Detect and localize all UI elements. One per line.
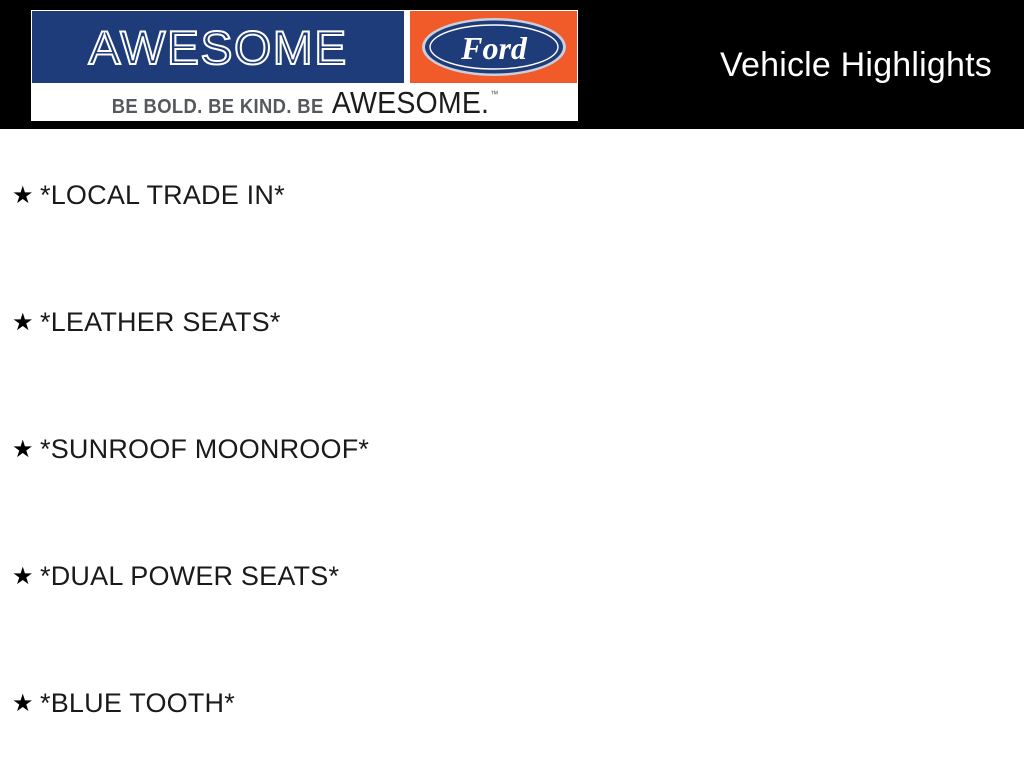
highlight-label: *SUNROOF MOONROOF* (40, 434, 369, 465)
star-icon: ★ (12, 311, 40, 335)
highlight-label: *DUAL POWER SEATS* (40, 561, 339, 592)
list-item: ★ *BLUE TOOTH* (12, 688, 235, 719)
star-icon: ★ (12, 565, 40, 589)
vehicle-highlights-page: AWESOME Ford BE BOLD. BE KIND. BE AWESOM… (0, 0, 1024, 768)
list-item: ★ *DUAL POWER SEATS* (12, 561, 339, 592)
highlight-label: *BLUE TOOTH* (40, 688, 235, 719)
logo-top-row: AWESOME Ford (31, 10, 578, 84)
list-item: ★ *LOCAL TRADE IN* (12, 180, 285, 211)
logo-blue-panel: AWESOME (32, 11, 404, 83)
awesome-ford-logo[interactable]: AWESOME Ford BE BOLD. BE KIND. BE AWESOM… (31, 10, 578, 121)
vehicle-highlights-list: ★ *LOCAL TRADE IN* ★ *LEATHER SEATS* ★ *… (0, 129, 1024, 768)
awesome-wordmark: AWESOME (88, 20, 347, 75)
highlight-label: *LEATHER SEATS* (40, 307, 281, 338)
header-bar: AWESOME Ford BE BOLD. BE KIND. BE AWESOM… (0, 0, 1024, 129)
logo-orange-panel: Ford (410, 11, 577, 83)
tagline-awesome-text: AWESOME. (332, 85, 489, 121)
list-item: ★ *LEATHER SEATS* (12, 307, 281, 338)
star-icon: ★ (12, 438, 40, 462)
star-icon: ★ (12, 184, 40, 208)
ford-oval-icon: Ford (420, 16, 568, 78)
logo-tagline-row: BE BOLD. BE KIND. BE AWESOME. ™ (31, 84, 578, 121)
svg-text:Ford: Ford (460, 30, 528, 66)
star-icon: ★ (12, 692, 40, 716)
page-title: Vehicle Highlights (720, 46, 992, 85)
trademark-symbol: ™ (490, 89, 498, 99)
logo-tagline: BE BOLD. BE KIND. BE AWESOME. ™ (112, 85, 498, 121)
highlight-label: *LOCAL TRADE IN* (40, 180, 285, 211)
tagline-lead-text: BE BOLD. BE KIND. BE (112, 96, 324, 119)
list-item: ★ *SUNROOF MOONROOF* (12, 434, 369, 465)
